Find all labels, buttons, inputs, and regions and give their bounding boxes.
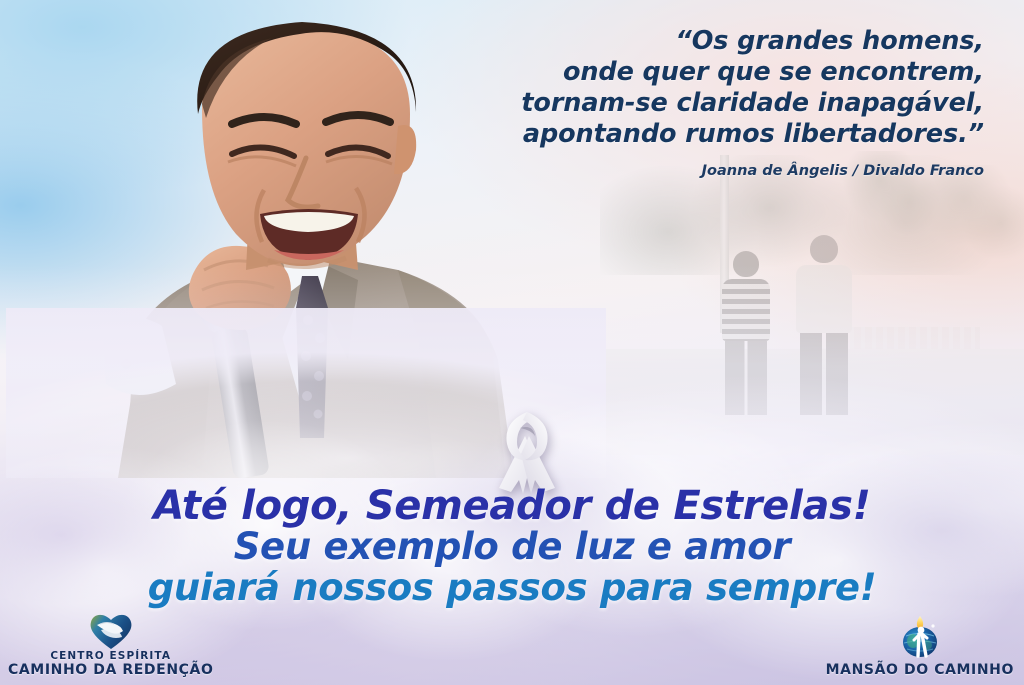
quote-line-1: “Os grandes homens, xyxy=(424,26,984,57)
quote-line-4: apontando rumos libertadores.” xyxy=(424,119,984,150)
logo-centro-espirita: CENTRO ESPÍRITA CAMINHO DA REDENÇÃO xyxy=(8,611,213,679)
quote-block: “Os grandes homens, onde quer que se enc… xyxy=(424,26,984,179)
quote-line-2: onde quer que se encontrem, xyxy=(424,57,984,88)
quote-author: Joanna de Ângelis / Divaldo Franco xyxy=(424,163,984,179)
logo-mansao-do-caminho: MANSÃO DO CAMINHO xyxy=(826,614,1014,679)
background-photo xyxy=(600,155,1024,455)
heart-hands-icon xyxy=(88,611,134,651)
background-person-adult xyxy=(796,235,852,415)
background-tree-icon xyxy=(900,165,1024,335)
background-person-child xyxy=(722,251,770,415)
quote-line-3: tornam-se claridade inapagável, xyxy=(424,88,984,119)
message-line-3: guiará nossos passos para sempre! xyxy=(0,567,1024,609)
logo-left-line1: CENTRO ESPÍRITA xyxy=(8,651,213,663)
logo-left-line2: CAMINHO DA REDENÇÃO xyxy=(8,663,213,679)
memorial-poster: “Os grandes homens, onde quer que se enc… xyxy=(0,0,1024,685)
message-line-2: Seu exemplo de luz e amor xyxy=(0,526,1024,567)
logo-left-text: CENTRO ESPÍRITA CAMINHO DA REDENÇÃO xyxy=(8,651,213,679)
memorial-message: Até logo, Semeador de Estrelas! Seu exem… xyxy=(0,486,1024,609)
logo-right-line1: MANSÃO DO CAMINHO xyxy=(826,663,1014,679)
globe-figure-icon xyxy=(897,614,943,660)
logo-right-text: MANSÃO DO CAMINHO xyxy=(826,660,1014,679)
message-line-1: Até logo, Semeador de Estrelas! xyxy=(0,486,1024,526)
